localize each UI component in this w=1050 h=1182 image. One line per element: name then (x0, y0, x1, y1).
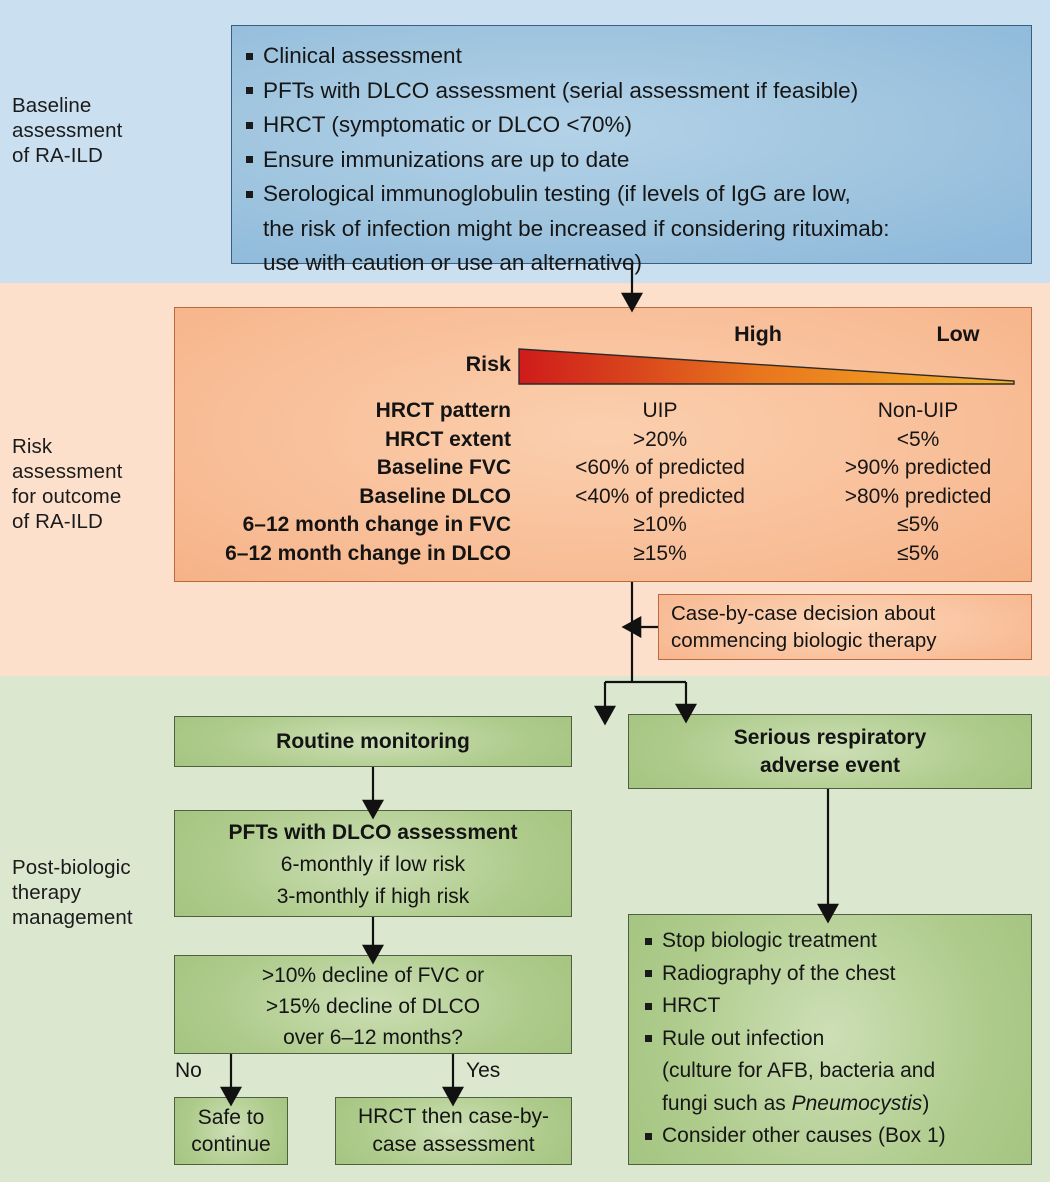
risk-row-label: Baseline DLCO (175, 483, 511, 512)
risk-row-low: Non-UIP (808, 397, 1028, 426)
list-item: HRCT (symptomatic or DLCO <70%) (244, 108, 1015, 143)
risk-row-high: >20% (520, 426, 800, 455)
risk-assessment-box: High Low Risk HRCT pattern UIP Non-UIP (174, 307, 1032, 582)
risk-row-high: <40% of predicted (520, 483, 800, 512)
list-item: PFTs with DLCO assessment (serial assess… (244, 74, 1015, 109)
table-row: Baseline FVC <60% of predicted >90% pred… (175, 454, 1031, 483)
pfts-box-line1: 6-monthly if low risk (175, 849, 571, 881)
bullet-text: Stop biologic treatment (662, 929, 877, 952)
decline-box-line1: >10% decline of FVC or (175, 960, 571, 991)
hrct-case-line2: case assessment (336, 1131, 571, 1159)
risk-row-high: ≥10% (520, 511, 800, 540)
case-by-case-decision-box: Case-by-case decision about commencing b… (658, 594, 1032, 660)
branch-label-no: No (175, 1059, 202, 1083)
table-row: Baseline DLCO <40% of predicted >80% pre… (175, 483, 1031, 512)
list-item: Rule out infection (culture for AFB, bac… (643, 1023, 1023, 1121)
risk-row-low: >80% predicted (808, 483, 1028, 512)
routine-monitoring-label: Routine monitoring (276, 730, 470, 754)
table-row: HRCT extent >20% <5% (175, 426, 1031, 455)
bullet-text-line2: the risk of infection might be increased… (263, 212, 1015, 247)
decline-decision-box: >10% decline of FVC or >15% decline of D… (174, 955, 572, 1054)
risk-row-high: ≥15% (520, 540, 800, 569)
bullet-text: PFTs with DLCO assessment (serial assess… (263, 78, 858, 103)
bullet-text: Clinical assessment (263, 43, 462, 68)
bullet-text-line3-italic: Pneumocystis (792, 1092, 923, 1115)
bullet-text: HRCT (662, 994, 720, 1017)
risk-row-label: 6–12 month change in FVC (175, 511, 511, 540)
list-item: Radiography of the chest (643, 958, 1023, 991)
baseline-assessment-box: Clinical assessment PFTs with DLCO asses… (231, 25, 1032, 264)
case-box-line1: Case-by-case decision about (671, 601, 1021, 628)
table-row: 6–12 month change in DLCO ≥15% ≤5% (175, 540, 1031, 569)
risk-rows: HRCT pattern UIP Non-UIP HRCT extent >20… (175, 397, 1031, 568)
bullet-text-line3-pre: fungi such as (662, 1092, 792, 1115)
risk-row-low: >90% predicted (808, 454, 1028, 483)
safe-box-line2: continue (175, 1131, 287, 1158)
list-item: Stop biologic treatment (643, 925, 1023, 958)
risk-row-label: 6–12 month change in DLCO (175, 540, 511, 569)
table-row: 6–12 month change in FVC ≥10% ≤5% (175, 511, 1031, 540)
bullet-text: Ensure immunizations are up to date (263, 147, 629, 172)
pfts-monitoring-box: PFTs with DLCO assessment 6-monthly if l… (174, 810, 572, 917)
bullet-text-line3: fungi such as Pneumocystis) (662, 1088, 1023, 1121)
risk-gradient-label: Risk (365, 352, 511, 377)
list-item: Consider other causes (Box 1) (643, 1120, 1023, 1153)
safe-box-line1: Safe to (175, 1104, 287, 1131)
bullet-text: Rule out infection (662, 1027, 824, 1050)
list-item: HRCT (643, 990, 1023, 1023)
risk-row-label: Baseline FVC (175, 454, 511, 483)
safe-to-continue-box: Safe to continue (174, 1097, 288, 1165)
list-item: Ensure immunizations are up to date (244, 143, 1015, 178)
branch-label-yes: Yes (466, 1059, 500, 1083)
list-item: Clinical assessment (244, 39, 1015, 74)
adverse-event-actions-box: Stop biologic treatment Radiography of t… (628, 914, 1032, 1165)
section-label-risk: Risk assessment for outcome of RA-ILD (12, 434, 122, 534)
risk-row-label: HRCT extent (175, 426, 511, 455)
bullet-text-line2: (culture for AFB, bacteria and (662, 1055, 1023, 1088)
serious-event-text: Serious respiratory adverse event (734, 724, 927, 780)
bullet-text: Consider other causes (Box 1) (662, 1124, 946, 1147)
decline-box-line2: >15% decline of DLCO (175, 991, 571, 1022)
risk-column-header-high: High (678, 322, 838, 347)
risk-row-high: <60% of predicted (520, 454, 800, 483)
table-row: HRCT pattern UIP Non-UIP (175, 397, 1031, 426)
list-item: Serological immunoglobulin testing (if l… (244, 177, 1015, 281)
bullet-text-line3: use with caution or use an alternative) (263, 246, 1015, 281)
bullet-text: HRCT (symptomatic or DLCO <70%) (263, 112, 632, 137)
hrct-case-assessment-box: HRCT then case-by- case assessment (335, 1097, 572, 1165)
flowchart-figure: Baseline assessment of RA-ILD Risk asses… (0, 0, 1050, 1182)
risk-row-low: ≤5% (808, 511, 1028, 540)
risk-column-header-low: Low (878, 322, 1038, 347)
risk-row-low: ≤5% (808, 540, 1028, 569)
pfts-box-title: PFTs with DLCO assessment (175, 817, 571, 849)
pfts-box-line2: 3-monthly if high risk (175, 881, 571, 913)
decline-box-line3: over 6–12 months? (175, 1022, 571, 1053)
serious-adverse-event-box: Serious respiratory adverse event (628, 714, 1032, 789)
risk-row-high: UIP (520, 397, 800, 426)
bullet-text: Serological immunoglobulin testing (if l… (263, 181, 851, 206)
bullet-text: Radiography of the chest (662, 962, 895, 985)
risk-gradient-triangle-icon (518, 348, 1015, 385)
section-label-baseline: Baseline assessment of RA-ILD (12, 93, 122, 168)
risk-column-headers: High Low (175, 322, 1031, 350)
adverse-bullet-list: Stop biologic treatment Radiography of t… (643, 925, 1023, 1153)
section-label-post-biologic: Post-biologic therapy management (12, 855, 133, 930)
serious-event-line1: Serious respiratory (734, 726, 927, 749)
bullet-text-line3-post: ) (922, 1092, 929, 1115)
baseline-bullet-list: Clinical assessment PFTs with DLCO asses… (244, 39, 1015, 281)
case-box-line2: commencing biologic therapy (671, 628, 1021, 655)
risk-row-label: HRCT pattern (175, 397, 511, 426)
hrct-case-line1: HRCT then case-by- (336, 1103, 571, 1131)
risk-row-low: <5% (808, 426, 1028, 455)
routine-monitoring-box: Routine monitoring (174, 716, 572, 767)
serious-event-line2: adverse event (760, 754, 900, 777)
